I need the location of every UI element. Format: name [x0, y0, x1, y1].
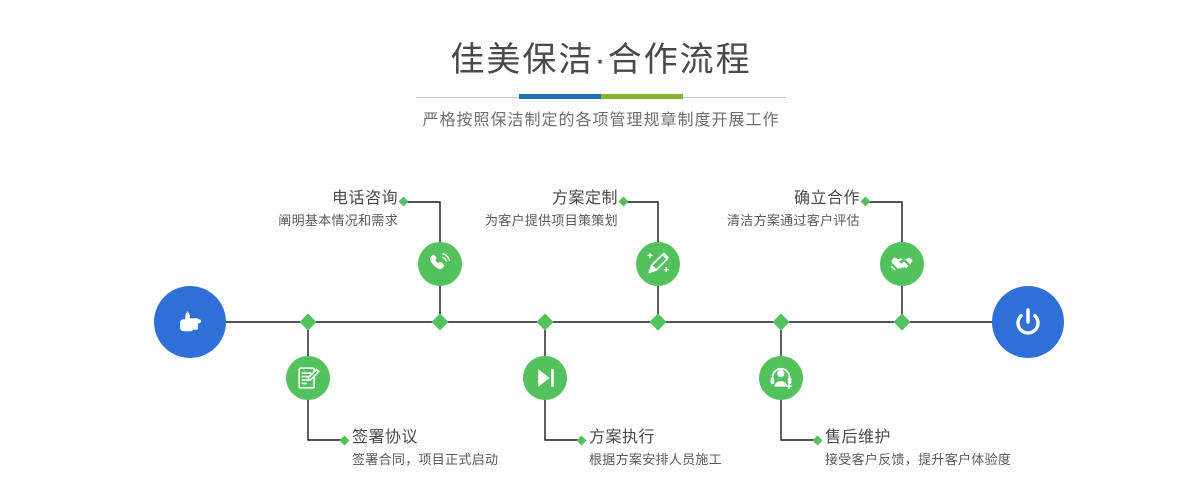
flow-end-button[interactable]	[992, 286, 1064, 358]
label-step-6-title: 售后维护	[825, 427, 1125, 448]
power-icon	[1008, 302, 1048, 342]
pencil-design-icon	[645, 251, 671, 277]
node-step-3[interactable]	[636, 242, 680, 286]
document-sign-icon	[295, 365, 321, 391]
label-step-3-desc: 为客户提供项目策策划	[380, 211, 618, 231]
label-step-1-desc: 阐明基本情况和需求	[160, 211, 398, 231]
label-step-4: 方案执行 根据方案安排人员施工	[589, 427, 849, 470]
support-headset-add-icon	[768, 365, 794, 391]
flow-start-button[interactable]	[154, 286, 226, 358]
label-step-2: 签署协议 签署合同，项目正式启动	[352, 427, 612, 470]
label-diamond-markers	[340, 197, 871, 446]
node-step-1[interactable]	[418, 242, 462, 286]
label-step-5: 确立合作 清洁方案通过客户评估	[622, 188, 860, 231]
label-step-5-desc: 清洁方案通过客户评估	[622, 211, 860, 231]
node-step-5[interactable]	[880, 242, 924, 286]
phone-call-icon	[427, 251, 453, 277]
label-step-3: 方案定制 为客户提供项目策策划	[380, 188, 618, 231]
label-step-6: 售后维护 接受客户反馈，提升客户体验度	[825, 427, 1125, 470]
label-step-1: 电话咨询 阐明基本情况和需求	[160, 188, 398, 231]
node-step-4[interactable]	[523, 356, 567, 400]
pointing-hand-icon	[170, 302, 210, 342]
play-execute-icon	[532, 365, 558, 391]
node-step-6[interactable]	[759, 356, 803, 400]
cooperation-flow-infographic: 佳美保洁·合作流程 严格按照保洁制定的各项管理规章制度开展工作	[0, 0, 1202, 502]
label-step-3-title: 方案定制	[380, 188, 618, 209]
label-step-2-title: 签署协议	[352, 427, 612, 448]
node-step-2[interactable]	[286, 356, 330, 400]
label-step-6-desc: 接受客户反馈，提升客户体验度	[825, 450, 1125, 470]
label-step-4-title: 方案执行	[589, 427, 849, 448]
label-step-5-title: 确立合作	[622, 188, 860, 209]
label-step-4-desc: 根据方案安排人员施工	[589, 450, 849, 470]
label-step-1-title: 电话咨询	[160, 188, 398, 209]
handshake-icon	[889, 251, 915, 277]
label-step-2-desc: 签署合同，项目正式启动	[352, 450, 612, 470]
